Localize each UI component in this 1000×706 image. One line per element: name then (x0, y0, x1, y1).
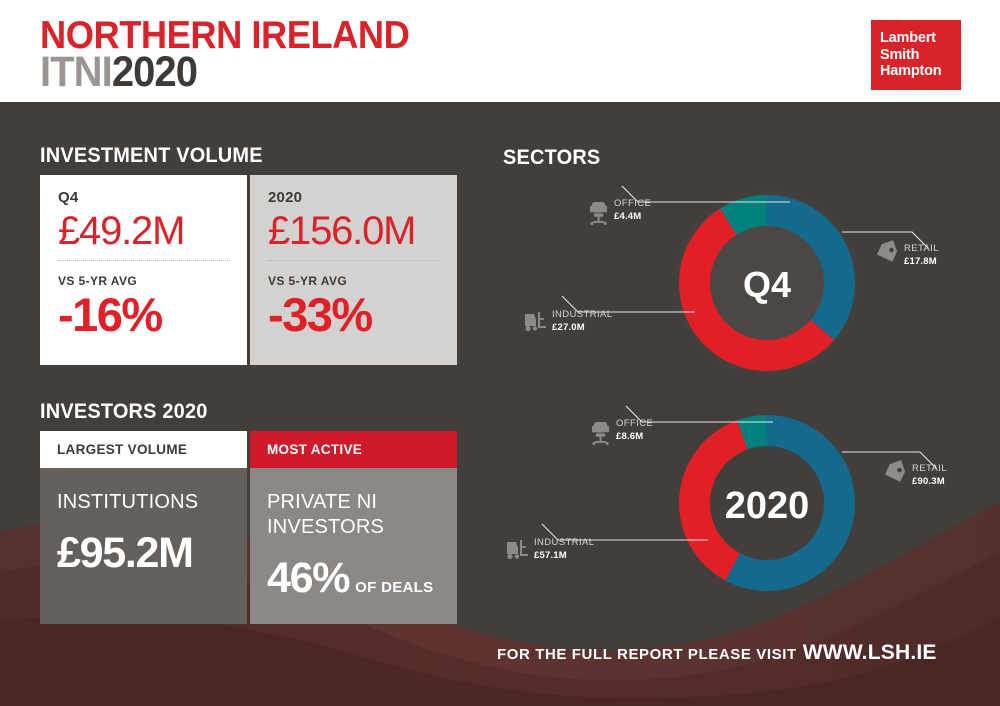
iv-amount-value: £156.0M (268, 207, 439, 255)
investor-value: £95.2M (57, 529, 247, 578)
investor-value-number: 46% (267, 554, 349, 602)
investor-card-header: LARGEST VOLUME (40, 431, 247, 468)
investor-value: 46%OF DEALS (267, 554, 457, 603)
price-tag-icon (882, 460, 908, 486)
investor-subject: INSTITUTIONS (57, 490, 247, 515)
q4-label-industrial: INDUSTRIAL £27.0M (525, 309, 612, 333)
report-year: 2020 (112, 48, 197, 96)
office-chair-icon (590, 202, 607, 225)
footer-text: FOR THE FULL REPORT PLEASE VISIT (497, 646, 797, 663)
iv-period-label: Q4 (58, 189, 229, 206)
lambert-smith-hampton-logo: Lambert Smith Hampton (871, 20, 961, 90)
iv-divider (58, 260, 230, 261)
investor-card-largest-volume: LARGEST VOLUME INSTITUTIONS £95.2M (40, 431, 247, 624)
section-heading-investors: INVESTORS 2020 (40, 400, 208, 424)
investment-volume-card-q4: Q4 £49.2M VS 5-YR AVG -16% (40, 175, 247, 365)
label-2020-retail: RETAIL £90.3M (882, 460, 947, 487)
donut-2020-center-label: 2020 (725, 485, 810, 527)
footer-url[interactable]: WWW.LSH.IE (803, 641, 937, 664)
label-2020-industrial-name: INDUSTRIAL (534, 537, 594, 548)
sector-donut-charts: Q4 OFFICE £4.4M (480, 110, 1000, 630)
q4-office-value: £4.4M (614, 211, 641, 222)
label-2020-retail-name: RETAIL (912, 463, 947, 474)
title-block: NORTHERN IRELAND ITNI2020 (40, 16, 437, 104)
page-header: NORTHERN IRELAND ITNI2020 Lambert Smith … (0, 0, 1000, 102)
iv-amount-value: £49.2M (58, 207, 229, 255)
q4-industrial-value: £27.0M (552, 322, 585, 333)
logo-line-1: Lambert (880, 30, 961, 47)
forklift-icon (525, 312, 546, 331)
label-2020-office-value: £8.6M (616, 431, 643, 442)
investor-value-suffix: OF DEALS (355, 579, 433, 596)
infographic-page: NORTHERN IRELAND ITNI2020 Lambert Smith … (0, 0, 1000, 706)
iv-period-label: 2020 (268, 189, 439, 206)
iv-change-value: -33% (268, 289, 439, 341)
label-2020-industrial-value: £57.1M (534, 550, 567, 561)
donut-chart-q4: Q4 (671, 187, 863, 379)
investor-value-number: £95.2M (57, 529, 193, 577)
investment-volume-card-2020: 2020 £156.0M VS 5-YR AVG -33% (250, 175, 457, 365)
iv-comparison-label: VS 5-YR AVG (58, 274, 229, 288)
donut-chart-2020: 2020 (679, 415, 855, 591)
label-2020-industrial: INDUSTRIAL £57.1M (507, 537, 594, 561)
logo-line-3: Hampton (880, 63, 961, 80)
iv-divider (268, 260, 440, 261)
label-2020-retail-value: £90.3M (912, 476, 945, 487)
report-code: ITNI (40, 48, 112, 96)
q4-label-retail: RETAIL £17.8M (874, 240, 939, 267)
q4-retail-value: £17.8M (904, 256, 937, 267)
investor-subject: PRIVATE NI INVESTORS (267, 490, 457, 540)
investor-card-body: INSTITUTIONS £95.2M (40, 468, 247, 624)
section-heading-investment-volume: INVESTMENT VOLUME (40, 144, 263, 168)
investor-card-body: PRIVATE NI INVESTORS 46%OF DEALS (250, 468, 457, 624)
q4-retail-name: RETAIL (904, 243, 939, 254)
forklift-icon (507, 540, 528, 559)
investor-card-header: MOST ACTIVE (250, 431, 457, 468)
office-chair-icon (592, 422, 609, 445)
q4-industrial-name: INDUSTRIAL (552, 309, 612, 320)
label-2020-office-name: OFFICE (616, 418, 653, 429)
price-tag-icon (874, 240, 900, 266)
q4-office-name: OFFICE (614, 198, 651, 209)
investor-card-most-active: MOST ACTIVE PRIVATE NI INVESTORS 46%OF D… (250, 431, 457, 624)
iv-comparison-label: VS 5-YR AVG (268, 274, 439, 288)
label-2020-office: OFFICE £8.6M (592, 418, 653, 445)
page-subtitle: ITNI2020 (40, 50, 409, 104)
footer: FOR THE FULL REPORT PLEASE VISITWWW.LSH.… (497, 641, 937, 665)
iv-change-value: -16% (58, 289, 229, 341)
q4-label-office: OFFICE £4.4M (590, 198, 651, 225)
q4-center-label: Q4 (743, 264, 791, 305)
logo-line-2: Smith (880, 47, 961, 64)
